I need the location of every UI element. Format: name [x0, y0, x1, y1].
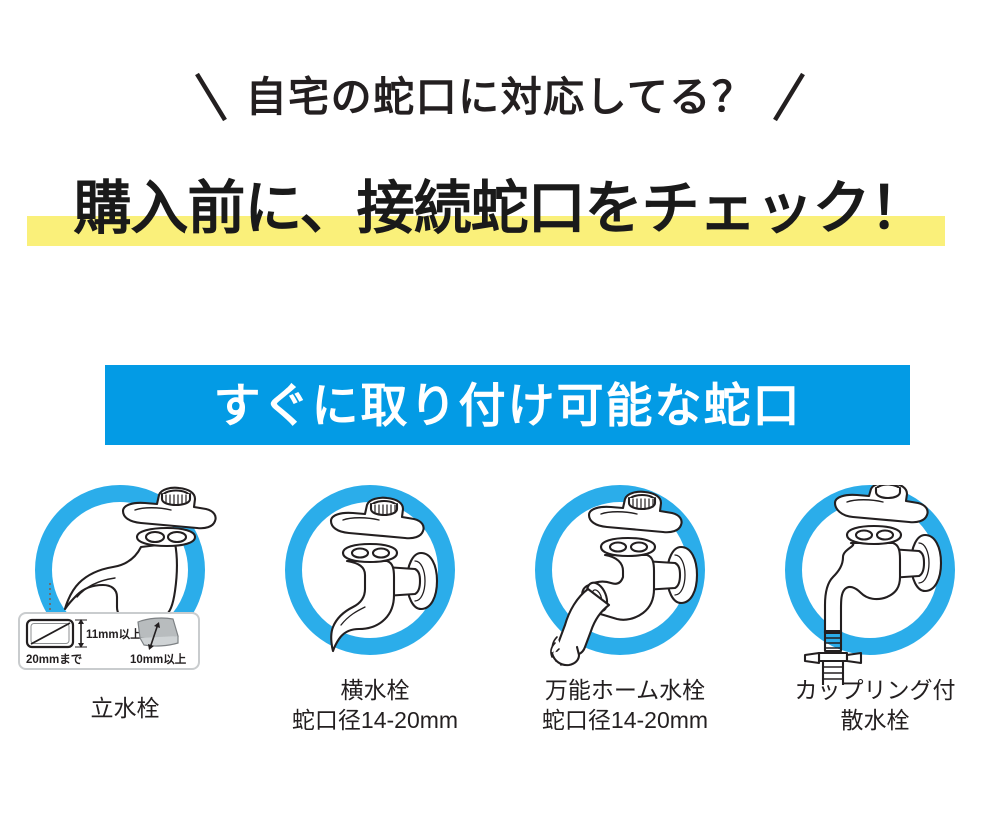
faucet-list: 11mm以上 20mmまで 10mm以上 立水栓: [0, 485, 1000, 785]
side-faucet-icon: [275, 485, 475, 685]
faucet-card-universal: 万能ホーム水栓 蛇口径14-20mm: [500, 485, 750, 785]
faucet-illustration-universal: [525, 485, 725, 685]
slash-left-icon: [194, 70, 228, 124]
faucet-caption: 万能ホーム水栓 蛇口径14-20mm: [500, 675, 750, 735]
coupling-sprinkler-faucet-icon: [775, 485, 975, 685]
faucet-caption: カップリング付 散水栓: [750, 675, 1000, 735]
page-title: 購入前に、接続蛇口をチェック！: [0, 170, 1000, 248]
faucet-name: 万能ホーム水栓: [500, 675, 750, 705]
headline-text: 自宅の蛇口に対応してる？: [246, 77, 755, 118]
main-title: 購入前に、接続蛇口をチェック！: [0, 170, 1000, 250]
spec-height-label: 11mm以上: [86, 627, 142, 641]
faucet-sub: 散水栓: [750, 705, 1000, 735]
section-banner-label: すぐに取り付け可能な蛇口: [214, 382, 802, 429]
faucet-caption: 立水栓: [0, 693, 250, 723]
spec-diagram-icon: 11mm以上 20mmまで 10mm以上: [20, 614, 198, 668]
leader-dotted-line: [49, 583, 51, 613]
faucet-illustration-side: [275, 485, 475, 685]
faucet-card-standing: 11mm以上 20mmまで 10mm以上 立水栓: [0, 485, 250, 785]
spec-clearance-label: 10mm以上: [130, 652, 187, 666]
section-banner: すぐに取り付け可能な蛇口: [105, 365, 910, 445]
faucet-illustration-coupling: [775, 485, 975, 685]
universal-home-faucet-icon: [525, 485, 725, 685]
spec-detail-box: 11mm以上 20mmまで 10mm以上: [18, 612, 200, 670]
faucet-sub: 蛇口径14-20mm: [500, 705, 750, 735]
slash-right-icon: [772, 70, 806, 124]
spec-width-label: 20mmまで: [26, 653, 82, 666]
faucet-sub: 蛇口径14-20mm: [250, 705, 500, 735]
faucet-caption: 横水栓 蛇口径14-20mm: [250, 675, 500, 735]
faucet-card-side: 横水栓 蛇口径14-20mm: [250, 485, 500, 785]
faucet-name: 立水栓: [0, 693, 250, 723]
faucet-name: カップリング付: [750, 675, 1000, 705]
faucet-name: 横水栓: [250, 675, 500, 705]
headline: 自宅の蛇口に対応してる？: [0, 66, 1000, 128]
faucet-card-coupling: カップリング付 散水栓: [750, 485, 1000, 785]
